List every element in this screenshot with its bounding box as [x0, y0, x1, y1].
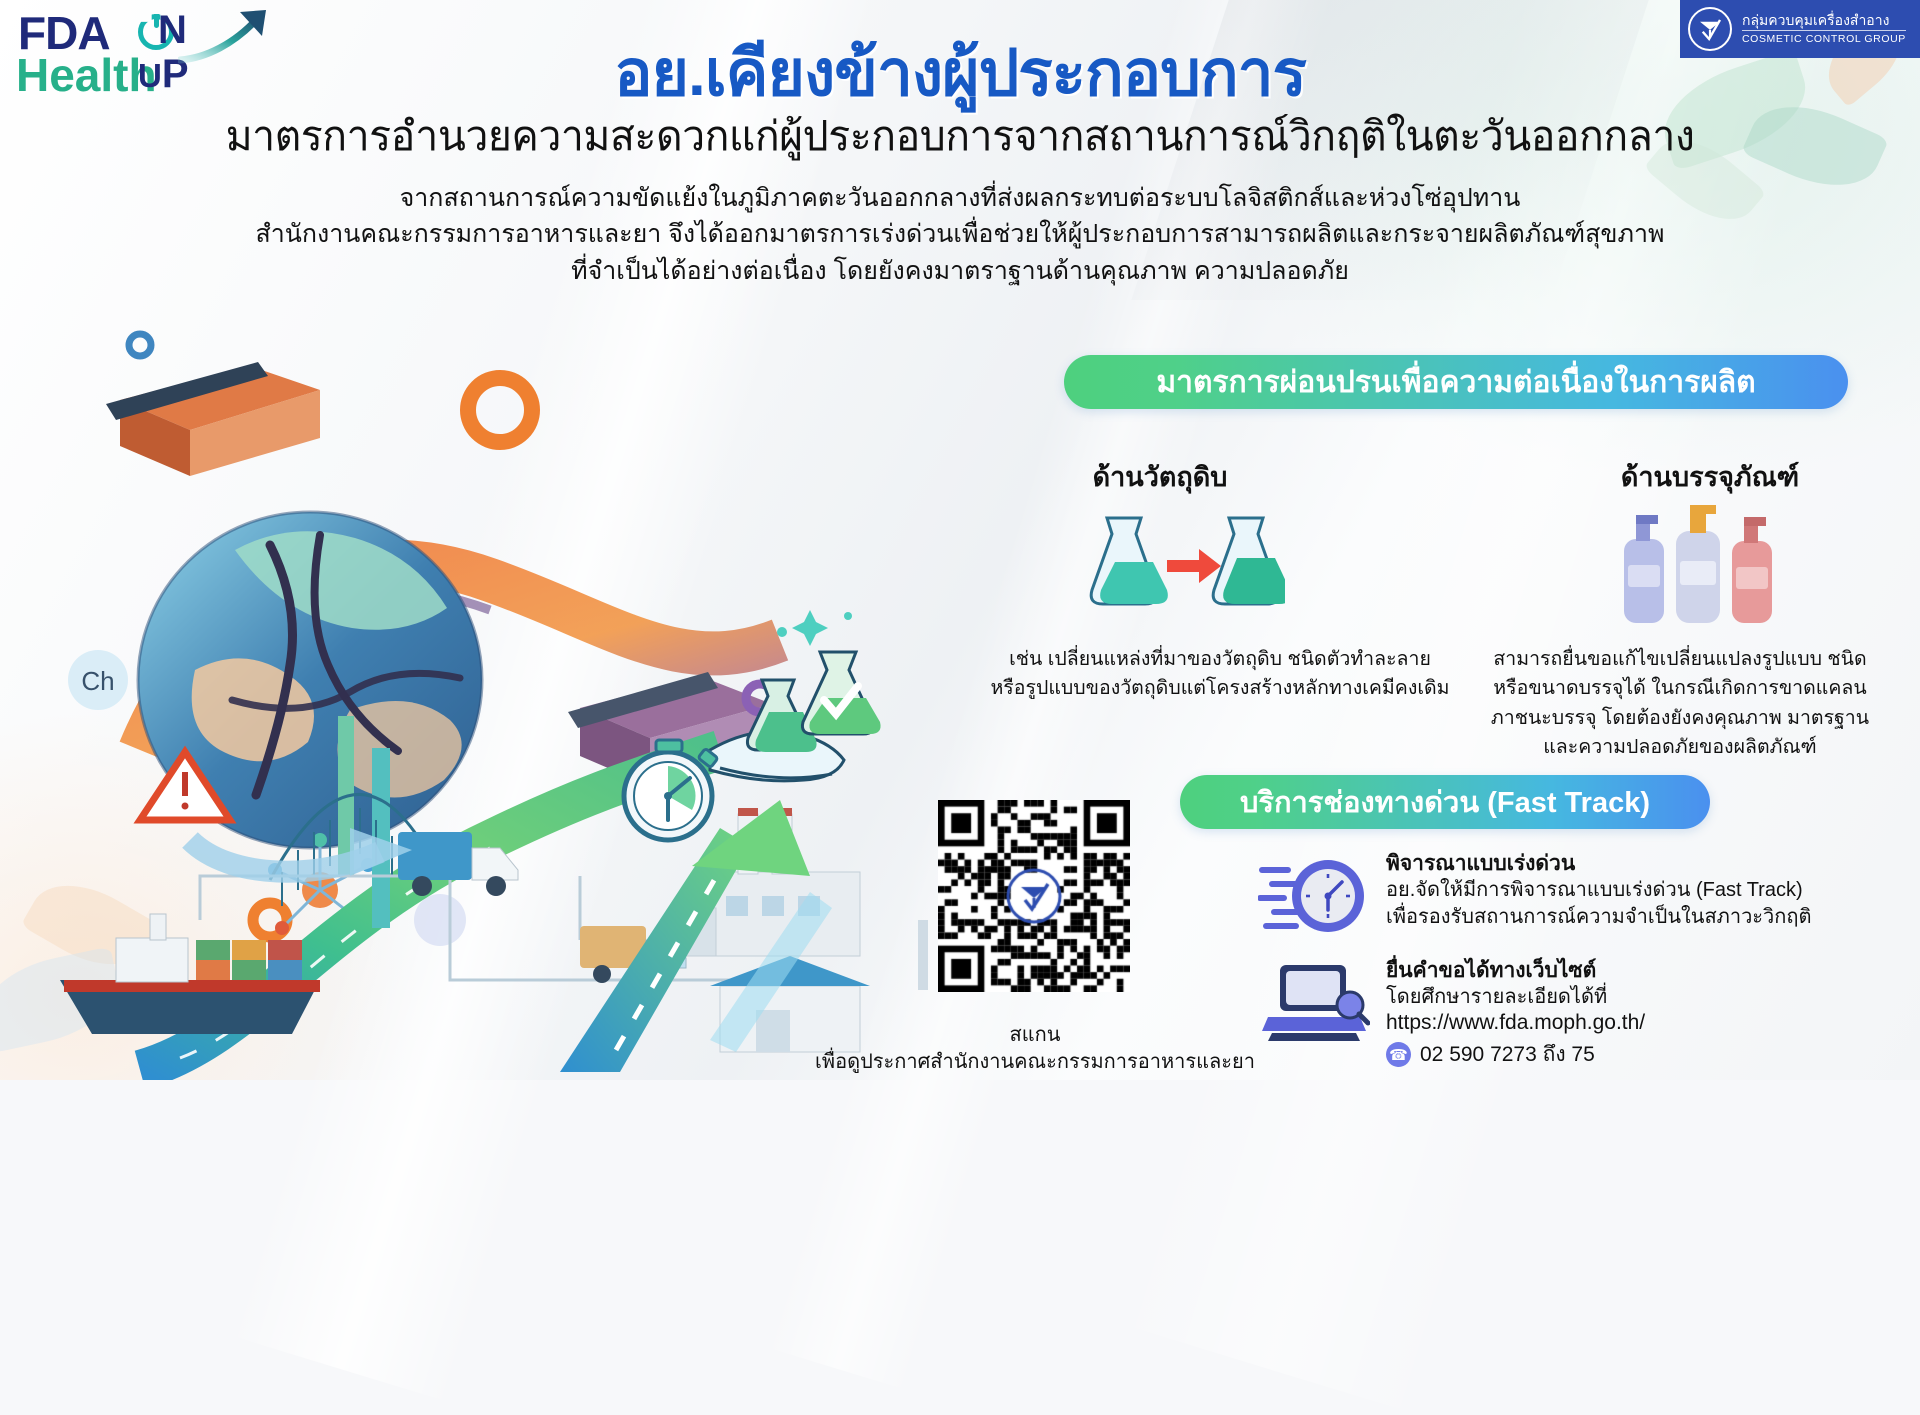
banner-fast-track: บริการช่องทางด่วน (Fast Track): [1180, 775, 1710, 829]
desc-line: หรือขนาดบรรจุได้ ในกรณีเกิดการขาดแคลน: [1470, 674, 1890, 703]
fast-track-text: ยื่นคำขอได้ทางเว็บไซต์ โดยศึกษารายละเอีย…: [1386, 955, 1645, 1071]
gear-icon: [468, 378, 532, 442]
fda-website-url[interactable]: https://www.fda.moph.go.th/: [1386, 1011, 1645, 1035]
global-supply-chain-illustration: Ch: [20, 280, 980, 1080]
column-heading-raw-material: ด้านวัตถุดิบ: [1040, 455, 1280, 498]
intro-line: สำนักงานคณะกรรมการอาหารและยา จึงได้ออกมา…: [0, 216, 1920, 252]
fast-track-item-expedited-review: พิจารณาแบบเร่งด่วน อย.จัดให้มีการพิจารณา…: [1258, 848, 1858, 940]
chemical-label-ch: Ch: [68, 650, 128, 710]
column-description-packaging: สามารถยื่นขอแก้ไขเปลี่ยนแปลงรูปแบบ ชนิด …: [1470, 645, 1890, 762]
qr-code-canvas[interactable]: [938, 800, 1130, 992]
qr-caption: สแกน เพื่อดูประกาศสำนักงานคณะกรรมการอาหา…: [800, 1022, 1270, 1076]
shipping-container-orange-icon: [106, 362, 320, 476]
phone-icon: [1386, 1042, 1411, 1067]
desc-line: และความปลอดภัยของผลิตภัณฑ์: [1470, 733, 1890, 762]
column-heading-packaging: ด้านบรรจุภัณฑ์: [1570, 455, 1850, 498]
fast-clock-icon: [1258, 848, 1370, 940]
flask-conversion-icon: [1085, 500, 1285, 630]
banner-relaxation-measures: มาตรการผ่อนปรนเพื่อความต่อเนื่องในการผลิ…: [1064, 355, 1848, 409]
qr-code[interactable]: [938, 800, 1130, 992]
qr-caption-line: สแกน: [800, 1022, 1270, 1049]
tower-decoration: [918, 920, 928, 990]
fast-track-line: เพื่อรองรับสถานการณ์ความจำเป็นในสภาวะวิก…: [1386, 904, 1812, 931]
intro-paragraph: จากสถานการณ์ความขัดแย้งในภูมิภาคตะวันออก…: [0, 180, 1920, 289]
desc-line: เช่น เปลี่ยนแหล่งที่มาของวัตถุดิบ ชนิดตั…: [960, 645, 1480, 674]
desc-line: สามารถยื่นขอแก้ไขเปลี่ยนแปลงรูปแบบ ชนิด: [1470, 645, 1890, 674]
fast-track-line: โดยศึกษารายละเอียดได้ที่: [1386, 984, 1645, 1011]
desc-line: หรือรูปแบบของวัตถุดิบแต่โครงสร้างหลักทาง…: [960, 674, 1480, 703]
fast-track-line: อย.จัดให้มีการพิจารณาแบบเร่งด่วน (Fast T…: [1386, 877, 1812, 904]
contact-phone: 02 590 7273 ถึง 75: [1386, 1038, 1645, 1071]
svg-text:Ch: Ch: [81, 666, 114, 696]
cosmetic-bottles-icon: [1610, 495, 1790, 630]
page-subtitle: มาตรการอำนวยความสะดวกแก่ผู้ประกอบการจากส…: [0, 104, 1920, 169]
qr-caption-line: เพื่อดูประกาศสำนักงานคณะกรรมการอาหารและย…: [800, 1049, 1270, 1076]
fast-track-heading: พิจารณาแบบเร่งด่วน: [1386, 850, 1812, 877]
gear-icon: [129, 334, 151, 356]
bubble-decoration: [414, 894, 466, 946]
phone-number: 02 590 7273 ถึง 75: [1420, 1038, 1595, 1071]
laptop-search-icon: [1258, 955, 1370, 1047]
fast-track-text: พิจารณาแบบเร่งด่วน อย.จัดให้มีการพิจารณา…: [1386, 848, 1812, 931]
column-description-raw-material: เช่น เปลี่ยนแหล่งที่มาของวัตถุดิบ ชนิดตั…: [960, 645, 1480, 704]
fast-track-heading: ยื่นคำขอได้ทางเว็บไซต์: [1386, 957, 1645, 984]
intro-line: จากสถานการณ์ความขัดแย้งในภูมิภาคตะวันออก…: [0, 180, 1920, 216]
infographic-page: FDA N Health UP กลุ่มควบคุมเครื่องสำอาง …: [0, 0, 1920, 1080]
fast-track-item-online-submission: ยื่นคำขอได้ทางเว็บไซต์ โดยศึกษารายละเอีย…: [1258, 955, 1858, 1071]
desc-line: ภาชนะบรรจุ โดยต้องยังคงคุณภาพ มาตรฐาน: [1470, 704, 1890, 733]
